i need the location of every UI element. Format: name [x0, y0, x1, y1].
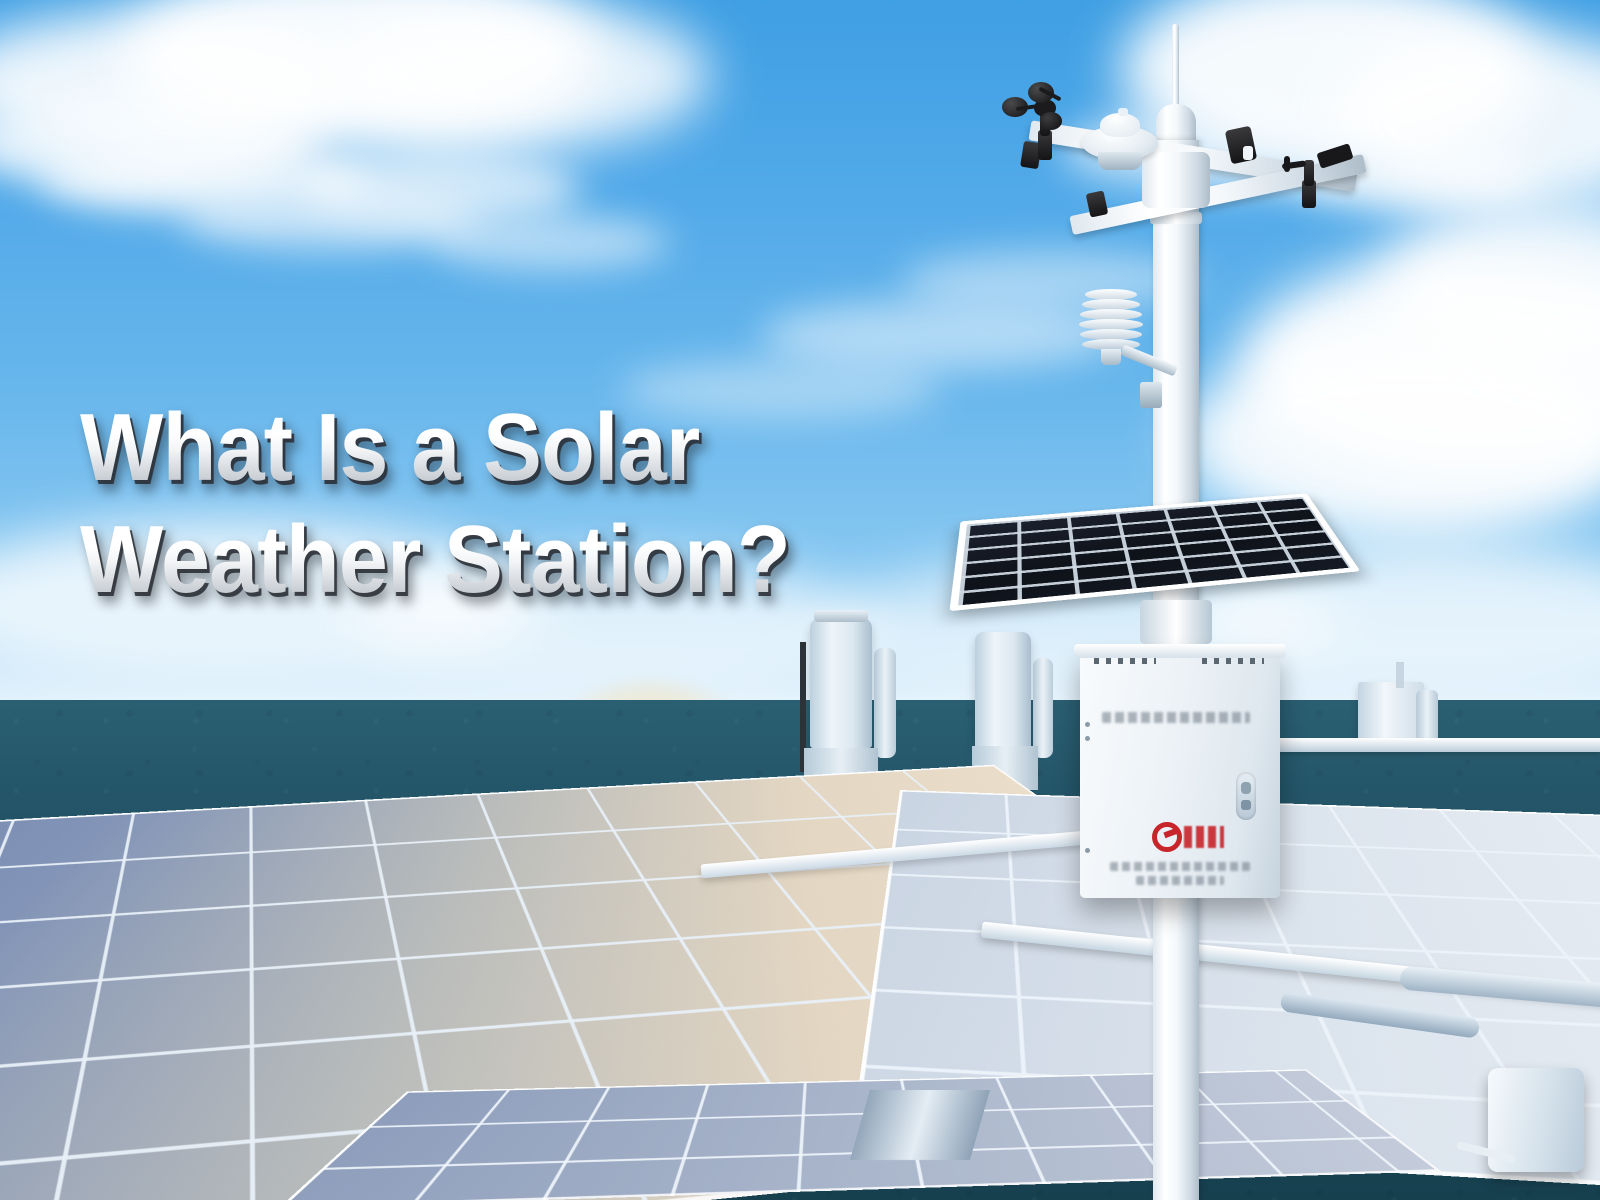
- door-latch: [1236, 772, 1256, 820]
- pyranometer-dome: [1100, 113, 1140, 137]
- enclosure-vent-slots: [1202, 658, 1264, 664]
- brand-logo-wordmark: [1184, 826, 1224, 848]
- shield-bracket-clamp: [1140, 382, 1162, 408]
- scene-image: What Is a Solar Weather Station?: [0, 0, 1600, 1200]
- door-latch-keyhole: [1241, 782, 1251, 794]
- door-latch-keyhole: [1241, 800, 1251, 810]
- page-title: What Is a Solar Weather Station?: [80, 392, 980, 616]
- enclosure-hinge: [1085, 736, 1090, 741]
- arm-fitting: [1243, 146, 1253, 160]
- enclosure-label-top: [1102, 712, 1250, 723]
- solar-panel-bracket: [1140, 600, 1212, 644]
- crossarm-end-cap: [1086, 190, 1109, 217]
- mast-solar-cells: [958, 497, 1350, 606]
- wind-vane-counterweight: [1284, 156, 1290, 172]
- anemometer-cup: [1040, 112, 1062, 130]
- pyranometer-base: [1098, 152, 1142, 170]
- enclosure-hinge: [1085, 722, 1090, 727]
- enclosure-vent-slots: [1094, 658, 1156, 664]
- enclosure-label-bottom-2: [1136, 876, 1224, 885]
- control-enclosure: [1080, 650, 1280, 898]
- enclosure-hinge: [1085, 848, 1090, 853]
- shield-sensor-probe: [1101, 349, 1121, 365]
- lightning-rod-icon: [1172, 24, 1179, 110]
- enclosure-top-cap: [1074, 644, 1286, 658]
- pyranometer-nub: [1118, 108, 1128, 116]
- title-line-2: Weather Station?: [80, 504, 908, 616]
- crossarm-hub: [1142, 152, 1210, 208]
- enclosure-label-bottom-1: [1110, 862, 1250, 871]
- title-line-1: What Is a Solar: [80, 392, 908, 504]
